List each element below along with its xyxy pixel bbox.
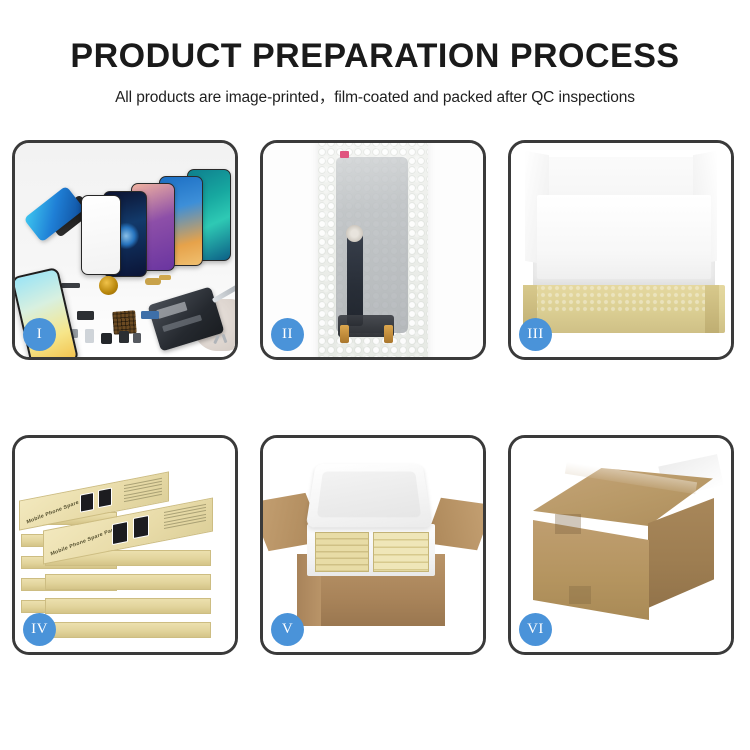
gold-contact-icon — [340, 325, 349, 343]
step-badge-5: V — [271, 613, 304, 646]
gold-contact-icon — [384, 325, 393, 343]
step-badge-1: I — [23, 318, 56, 351]
phone-white-glass-icon — [81, 195, 121, 275]
kraft-tray-right-lip — [705, 285, 719, 333]
spare-part-icon — [85, 329, 94, 343]
process-step-panel-3: III — [508, 140, 734, 360]
kraft-box-icon — [45, 574, 211, 590]
foam-sheet-icon — [537, 195, 711, 279]
product-preparation-infographic: PRODUCT PREPARATION PROCESS All products… — [0, 0, 750, 750]
spare-part-icon — [61, 283, 80, 288]
spare-part-icon — [141, 311, 159, 319]
pink-label-icon — [340, 151, 349, 158]
page-subtitle: All products are image-printed，film-coat… — [0, 85, 750, 107]
foam-lid-icon — [306, 464, 433, 527]
process-step-panel-4: Mobile Phone Spare Parts Mobile Phone Sp… — [12, 435, 238, 655]
carton-seam — [569, 586, 591, 604]
screws-icon — [213, 333, 233, 347]
process-step-panel-1: I — [12, 140, 238, 360]
spare-part-icon — [77, 311, 94, 320]
box-spec-lines — [124, 478, 162, 505]
box-screen-print-icon — [80, 492, 94, 513]
spare-part-icon — [119, 331, 129, 343]
box-screen-print-icon — [133, 515, 149, 539]
process-step-panel-5: V — [260, 435, 486, 655]
camera-module-icon — [346, 225, 363, 242]
spare-part-icon — [101, 333, 112, 344]
step-badge-3: III — [519, 318, 552, 351]
step-badge-2: II — [271, 318, 304, 351]
header: PRODUCT PREPARATION PROCESS All products… — [0, 38, 750, 107]
kraft-box-stack-left-icon — [315, 532, 369, 572]
box-screen-print-icon — [98, 488, 112, 509]
kraft-box-icon — [45, 598, 211, 614]
process-step-grid: I II — [12, 140, 738, 655]
box-spec-lines — [164, 504, 206, 531]
kraft-box-icon — [45, 622, 211, 638]
kraft-box-stack-right-icon — [373, 532, 429, 572]
box-screen-print-icon — [112, 521, 128, 545]
carton-seam — [555, 514, 581, 534]
process-step-panel-2: II — [260, 140, 486, 360]
spare-part-icon — [133, 333, 141, 343]
step-badge-4: IV — [23, 613, 56, 646]
spare-part-icon — [159, 275, 171, 280]
bubble-wrap-bag-icon — [318, 143, 428, 357]
bubble-padding-icon — [533, 285, 709, 313]
step-badge-6: VI — [519, 613, 552, 646]
page-title: PRODUCT PREPARATION PROCESS — [0, 38, 750, 75]
speaker-coil-icon — [99, 276, 118, 295]
flex-cable-icon — [347, 234, 363, 326]
process-step-panel-6: VI — [508, 435, 734, 655]
